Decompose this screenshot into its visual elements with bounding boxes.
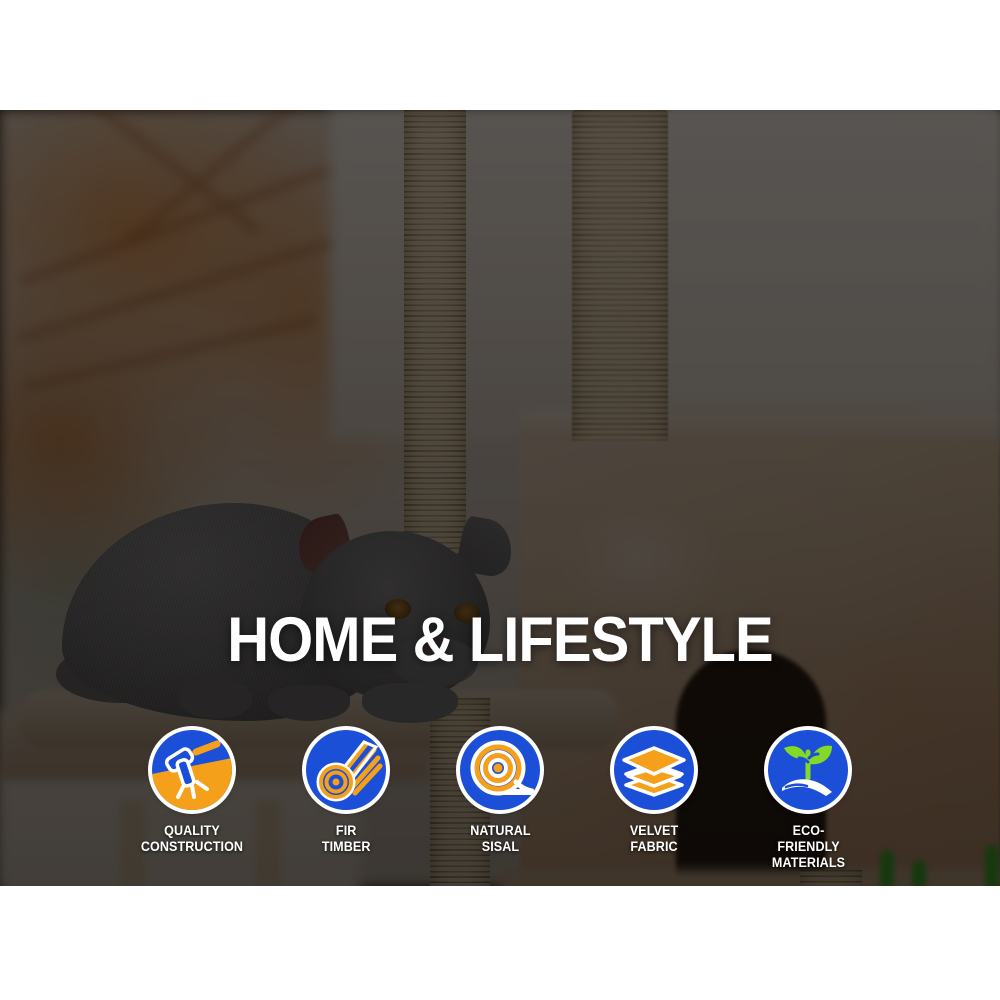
feature-icon-row: QUALITY CONSTRUCTION — [0, 730, 1000, 870]
log-icon — [306, 730, 386, 810]
product-feature-banner: HOME & LIFESTYLE — [0, 0, 1000, 1000]
product-photo: HOME & LIFESTYLE — [0, 110, 1000, 886]
feature-velvet-fabric: VELVET FABRIC — [607, 730, 702, 855]
feature-quality-construction: QUALITY CONSTRUCTION — [145, 730, 240, 855]
hammer-icon — [152, 730, 232, 810]
feature-label: ECO-FRIENDLY MATERIALS — [764, 823, 852, 870]
feature-natural-sisal: NATURAL SISAL — [453, 730, 548, 855]
feature-label: VELVET FABRIC — [630, 823, 678, 855]
page-title: HOME & LIFESTYLE — [40, 604, 960, 676]
feature-fir-timber: FIR TIMBER — [299, 730, 394, 855]
sprout-hand-icon — [768, 730, 848, 810]
fabric-layers-icon — [614, 730, 694, 810]
feature-label: NATURAL SISAL — [470, 823, 530, 855]
feature-label: QUALITY CONSTRUCTION — [141, 823, 243, 855]
feature-eco-friendly-materials: ECO-FRIENDLY MATERIALS — [761, 730, 856, 870]
feature-label: FIR TIMBER — [322, 823, 371, 855]
rope-coil-icon — [460, 730, 540, 810]
